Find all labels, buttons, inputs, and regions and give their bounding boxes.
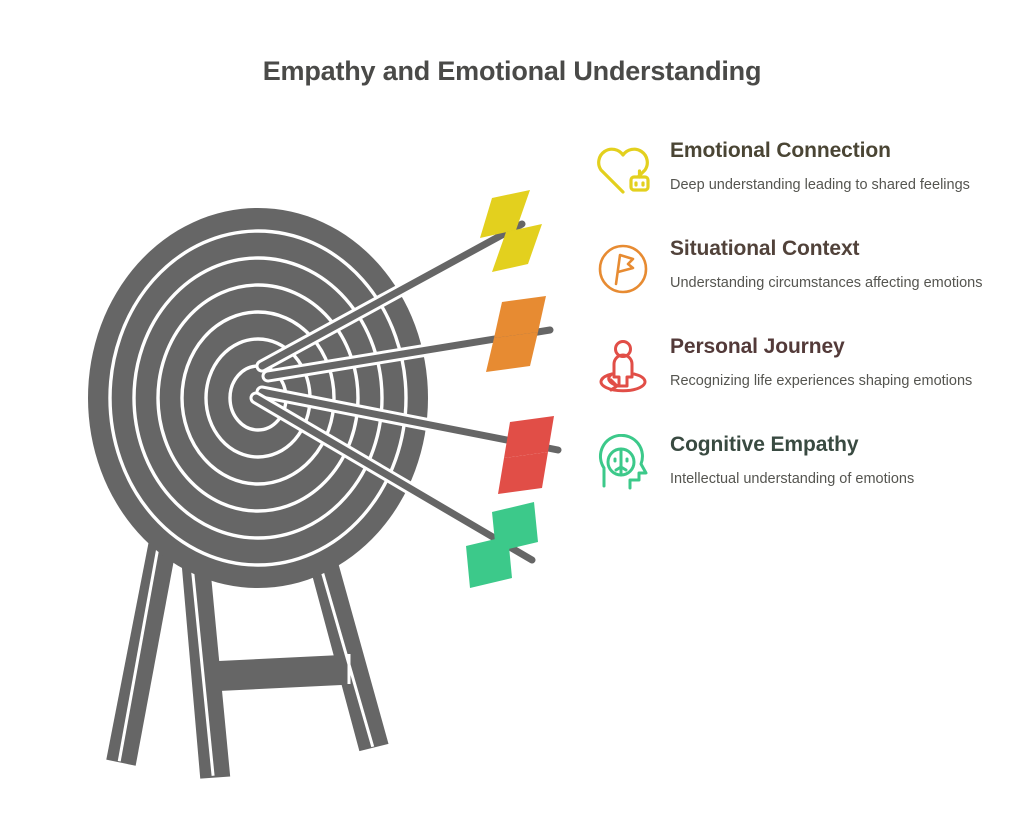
feature-description: Recognizing life experiences shaping emo… xyxy=(670,370,1000,392)
feature-title: Cognitive Empathy xyxy=(670,432,1002,458)
head-brain-icon xyxy=(592,434,654,496)
infographic-root: Empathy and Emotional Understanding xyxy=(0,0,1024,817)
feature-item-personal-journey: Personal Journey Recognizing life experi… xyxy=(592,334,1002,406)
feature-item-situational-context: Situational Context Understanding circum… xyxy=(592,236,1002,308)
feature-list: Emotional Connection Deep understanding … xyxy=(592,138,1002,504)
feature-title: Emotional Connection xyxy=(670,138,1002,164)
feature-description: Deep understanding leading to shared fee… xyxy=(670,174,1000,196)
arrow-yellow-fletching xyxy=(480,190,542,272)
feature-title: Personal Journey xyxy=(670,334,1002,360)
archery-target-illustration xyxy=(10,160,580,790)
page-title: Empathy and Emotional Understanding xyxy=(0,56,1024,87)
stand-crossbar xyxy=(198,654,362,692)
person-journey-icon xyxy=(592,336,654,398)
arrow-red-fletching xyxy=(498,416,554,494)
feature-description: Understanding circumstances affecting em… xyxy=(670,272,1000,294)
feature-title: Situational Context xyxy=(670,236,1002,262)
feature-item-cognitive-empathy: Cognitive Empathy Intellectual understan… xyxy=(592,432,1002,504)
heart-robot-icon xyxy=(592,140,654,202)
arrow-orange-fletching xyxy=(486,296,546,372)
flag-circle-icon xyxy=(592,238,654,300)
stand-leg-left xyxy=(102,529,184,766)
feature-item-emotional-connection: Emotional Connection Deep understanding … xyxy=(592,138,1002,210)
feature-description: Intellectual understanding of emotions xyxy=(670,468,1000,490)
arrow-green-fletching xyxy=(466,502,538,588)
